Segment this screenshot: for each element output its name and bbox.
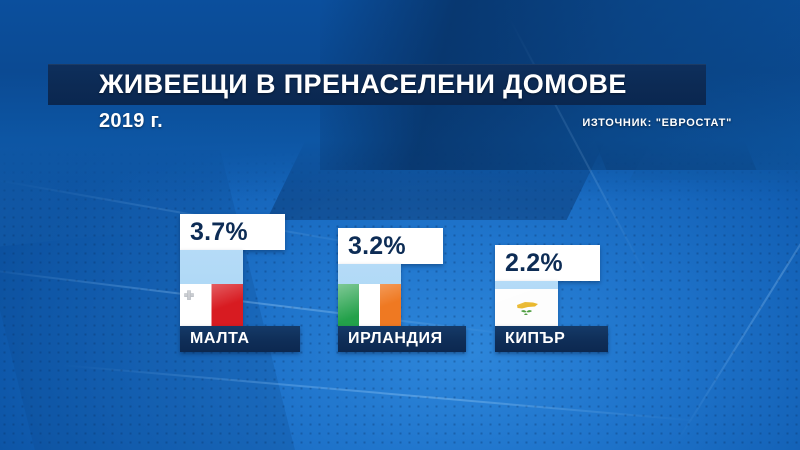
country-label-ireland: ИРЛАНДИЯ: [338, 330, 443, 348]
value-label-malta: 3.7%: [180, 218, 248, 247]
ireland-flag: [338, 284, 401, 326]
source-credit: ИЗТОЧНИК: "ЕВРОСТАТ": [582, 117, 732, 129]
infographic-screen: ЖИВЕЕЩИ В ПРЕНАСЕЛЕНИ ДОМОВЕ 2019 г. ИЗТ…: [0, 0, 800, 450]
subtitle-year: 2019 г.: [99, 110, 163, 133]
name-box-ireland: ИРЛАНДИЯ: [338, 326, 466, 352]
bar-malta: [180, 250, 243, 326]
cyprus-flag-icon: [495, 289, 558, 326]
malta-flag: [180, 284, 243, 326]
value-box-cyprus: 2.2%: [495, 245, 600, 281]
value-box-ireland: 3.2%: [338, 228, 443, 264]
value-label-cyprus: 2.2%: [495, 249, 563, 278]
value-box-malta: 3.7%: [180, 214, 285, 250]
name-box-malta: МАЛТА: [180, 326, 300, 352]
page-title: ЖИВЕЕЩИ В ПРЕНАСЕЛЕНИ ДОМОВЕ: [99, 66, 719, 102]
bar-cyprus: [495, 281, 558, 326]
name-box-cyprus: КИПЪР: [495, 326, 608, 352]
malta-flag-icon: [180, 284, 243, 326]
value-label-ireland: 3.2%: [338, 232, 406, 261]
country-label-malta: МАЛТА: [180, 330, 250, 348]
bar-ireland: [338, 264, 401, 326]
ireland-flag-icon: [338, 284, 401, 326]
country-label-cyprus: КИПЪР: [495, 330, 565, 348]
cyprus-flag: [495, 289, 558, 326]
